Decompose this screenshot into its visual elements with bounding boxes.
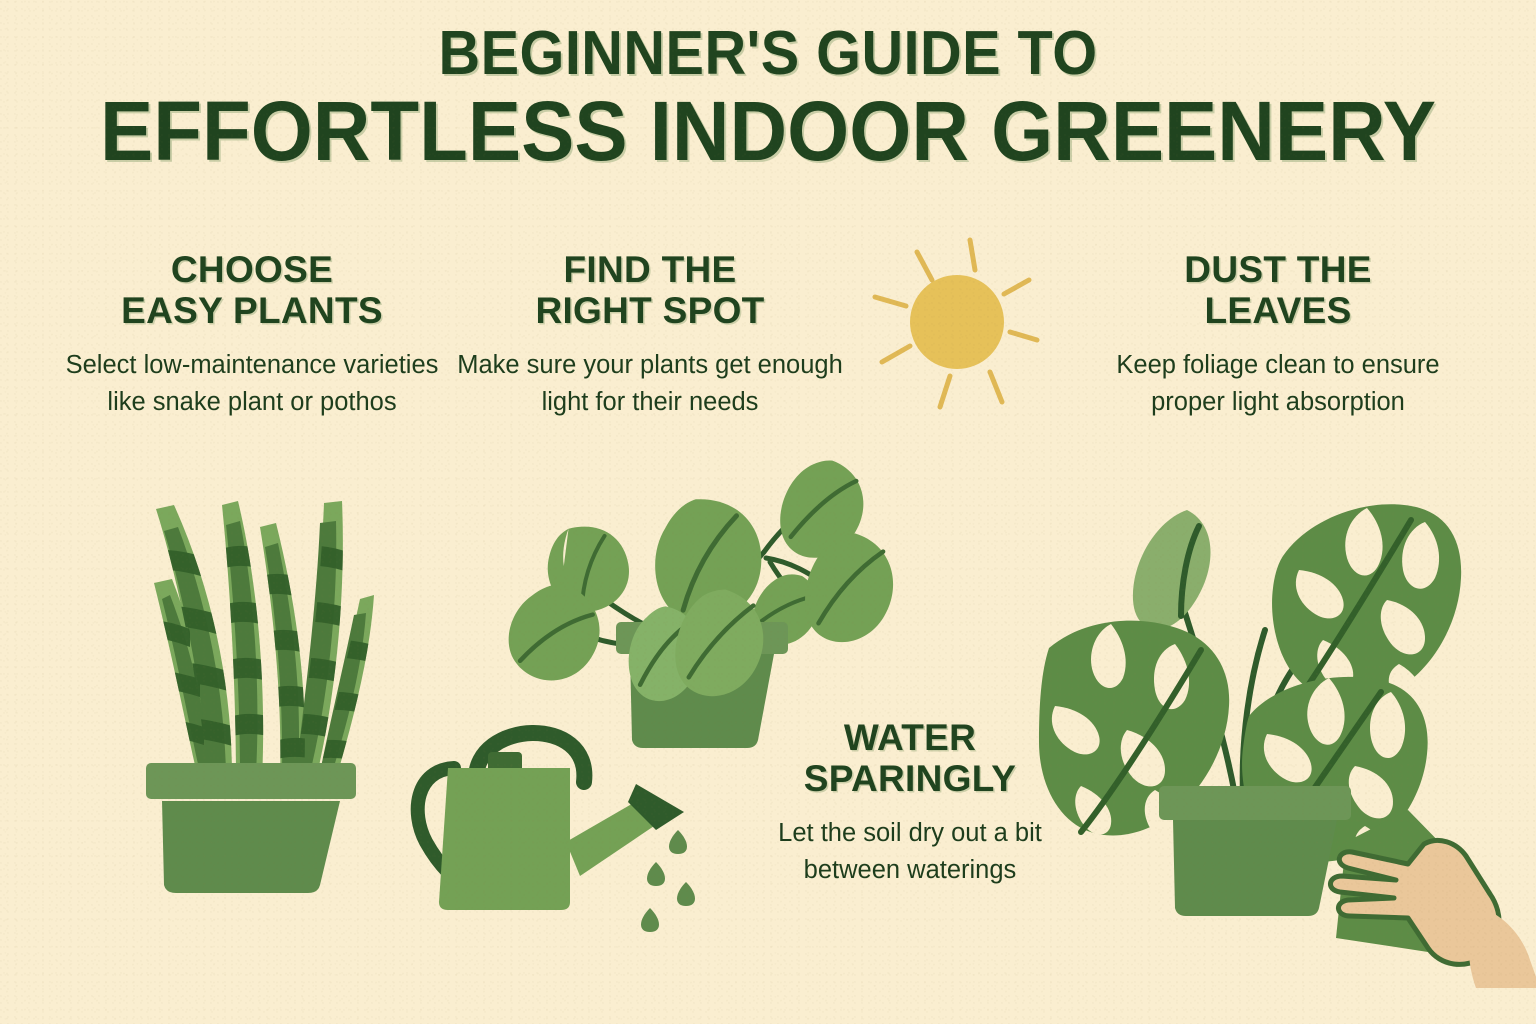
- heading-line-1: Water: [844, 717, 976, 758]
- section-heading-spot: Find the Right Spot: [452, 250, 848, 331]
- watering-can-icon: [408, 690, 738, 945]
- title-line-2: Effortless Indoor Greenery: [38, 89, 1497, 175]
- heading-line-1: Choose: [171, 249, 333, 290]
- section-heading-water: Water Sparingly: [740, 718, 1080, 799]
- hand-with-cloth-icon: [1290, 798, 1536, 993]
- section-body-dust: Keep foliage clean to ensure proper ligh…: [1078, 347, 1478, 419]
- section-body-spot: Make sure your plants get enough light f…: [452, 347, 848, 419]
- section-choose-easy-plants: Choose Easy Plants Select low-maintenanc…: [46, 250, 458, 420]
- section-find-the-right-spot: Find the Right Spot Make sure your plant…: [452, 250, 848, 420]
- section-dust-the-leaves: Dust the Leaves Keep foliage clean to en…: [1078, 250, 1478, 420]
- heading-line-2: Leaves: [1204, 290, 1351, 331]
- infographic-poster: Beginner's Guide to Effortless Indoor Gr…: [0, 0, 1536, 1024]
- snake-plant-icon: [120, 495, 380, 900]
- heading-line-2: Right Spot: [535, 290, 764, 331]
- heading-line-2: Easy Plants: [121, 290, 383, 331]
- section-water-sparingly: Water Sparingly Let the soil dry out a b…: [740, 718, 1080, 888]
- section-body-water: Let the soil dry out a bit between water…: [740, 815, 1080, 887]
- heading-line-2: Sparingly: [804, 758, 1016, 799]
- section-heading-dust: Dust the Leaves: [1078, 250, 1478, 331]
- title-line-1: Beginner's Guide to: [54, 22, 1482, 85]
- water-droplets: [641, 830, 695, 932]
- heading-line-1: Dust the: [1184, 249, 1371, 290]
- section-body-choose: Select low-maintenance varieties like sn…: [46, 347, 458, 419]
- sun-icon: [862, 222, 1092, 427]
- page-title: Beginner's Guide to Effortless Indoor Gr…: [0, 22, 1536, 175]
- section-heading-choose: Choose Easy Plants: [46, 250, 458, 331]
- heading-line-1: Find the: [563, 249, 736, 290]
